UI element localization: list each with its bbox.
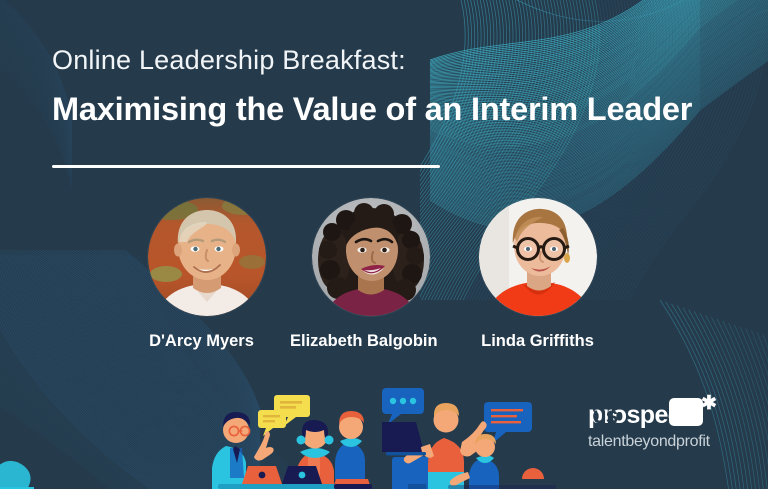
portrait-darcy-myers bbox=[148, 198, 266, 316]
avatar bbox=[312, 198, 430, 316]
header-divider bbox=[52, 165, 440, 168]
banner-canvas: Online Leadership Breakfast: Maximising … bbox=[0, 0, 768, 489]
speaker-name: Elizabeth Balgobin bbox=[290, 332, 438, 351]
laptop-dark bbox=[282, 466, 322, 484]
event-headline: Maximising the Value of an Interim Leade… bbox=[52, 92, 712, 128]
logo-wordmark: prospect us ✱ bbox=[588, 400, 738, 430]
logo-tagline: talentbeyondprofit bbox=[588, 433, 738, 451]
event-kicker: Online Leadership Breakfast: bbox=[52, 46, 712, 76]
speaker-card: Linda Griffiths bbox=[479, 198, 597, 351]
logo-badge-text: us bbox=[588, 400, 622, 428]
collaboration-illustration bbox=[196, 380, 556, 489]
speaker-name: Linda Griffiths bbox=[478, 332, 597, 351]
banner-header: Online Leadership Breakfast: Maximising … bbox=[52, 46, 712, 127]
brand-logo[interactable]: prospect us ✱ talentbeyondprofit bbox=[588, 400, 738, 451]
avatar bbox=[479, 198, 597, 316]
logo-badge bbox=[669, 398, 703, 426]
speech-bubble-dots-icon bbox=[382, 388, 424, 424]
speaker-name: D'Arcy Myers bbox=[137, 332, 266, 351]
decor-ball bbox=[522, 468, 544, 479]
portrait-linda-griffiths bbox=[479, 198, 597, 316]
speaker-card: D'Arcy Myers bbox=[148, 198, 266, 351]
speaker-card: Elizabeth Balgobin bbox=[312, 198, 438, 351]
avatar bbox=[148, 198, 266, 316]
person-standing-blue bbox=[334, 411, 372, 489]
portrait-elizabeth-balgobin bbox=[312, 198, 430, 316]
asterisk-icon: ✱ bbox=[701, 394, 717, 413]
